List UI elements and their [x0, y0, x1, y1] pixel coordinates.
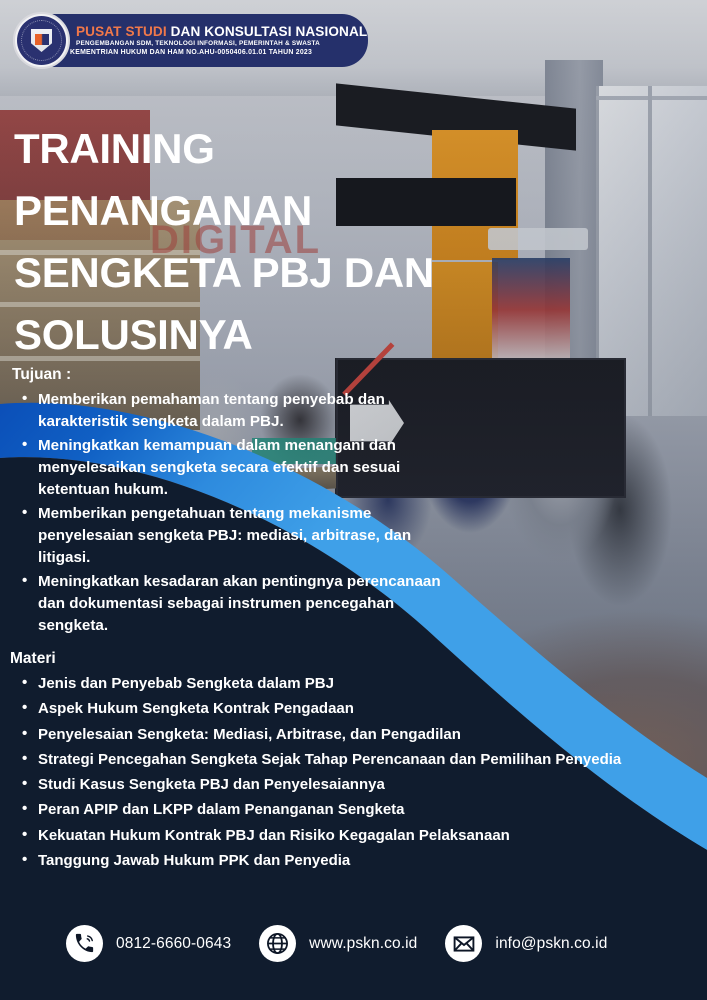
banner-title-orange: PUSAT STUDI [76, 24, 167, 39]
contact-website-value: www.pskn.co.id [309, 935, 417, 953]
phone-icon [66, 925, 103, 962]
list-item: Kekuatan Hukum Kontrak PBJ dan Risiko Ke… [10, 825, 670, 848]
objectives-list: Memberikan pemahaman tentang penyebab da… [12, 389, 442, 638]
banner-text-block: PUSAT STUDI DAN KONSULTASI NASIONAL PENG… [76, 25, 368, 57]
title-line-4: SOLUSINYA [14, 304, 534, 366]
organization-banner: PUSAT STUDI DAN KONSULTASI NASIONAL PENG… [14, 14, 368, 67]
contact-email-value: info@pskn.co.id [495, 935, 607, 953]
poster-canvas: DIGITAL [0, 0, 707, 1000]
contact-phone-value: 0812-6660-0643 [116, 935, 231, 953]
list-item: Memberikan pengetahuan tentang mekanisme… [12, 503, 442, 570]
pskn-logo [13, 12, 70, 69]
list-item: Strategi Pencegahan Sengketa Sejak Tahap… [10, 749, 670, 772]
contact-footer: 0812-6660-0643 www.pskn.co.id [0, 925, 707, 962]
contact-email[interactable]: info@pskn.co.id [445, 925, 607, 962]
banner-title: PUSAT STUDI DAN KONSULTASI NASIONAL [76, 25, 360, 39]
list-item: Aspek Hukum Sengketa Kontrak Pengadaan [10, 698, 670, 721]
banner-legal-text: KEMENTRIAN HUKUM DAN HAM NO.AHU-0050406.… [70, 49, 360, 56]
list-item: Meningkatkan kesadaran akan pentingnya p… [12, 571, 442, 638]
logo-ring-icon [17, 16, 66, 65]
list-item: Penyelesaian Sengketa: Mediasi, Arbitras… [10, 724, 670, 747]
objectives-section: Tujuan : Memberikan pemahaman tentang pe… [12, 366, 442, 639]
book-icon [35, 34, 49, 45]
list-item: Memberikan pemahaman tentang penyebab da… [12, 389, 442, 434]
shield-icon [31, 29, 52, 52]
list-item: Peran APIP dan LKPP dalam Penanganan Sen… [10, 799, 670, 822]
list-item: Studi Kasus Sengketa PBJ dan Penyelesaia… [10, 774, 670, 797]
materials-section: Materi Jenis dan Penyebab Sengketa dalam… [10, 650, 670, 875]
email-icon [445, 925, 482, 962]
materials-heading: Materi [10, 650, 670, 668]
materials-list: Jenis dan Penyebab Sengketa dalam PBJ As… [10, 673, 670, 873]
banner-title-white: DAN KONSULTASI NASIONAL [171, 24, 368, 39]
contact-phone[interactable]: 0812-6660-0643 [66, 925, 231, 962]
globe-icon [259, 925, 296, 962]
page-title: TRAINING PENANGANAN SENGKETA PBJ DAN SOL… [14, 118, 534, 367]
title-line-1: TRAINING [14, 118, 534, 180]
title-line-3: SENGKETA PBJ DAN [14, 242, 534, 304]
list-item: Meningkatkan kemampuan dalam menangani d… [12, 435, 442, 502]
banner-subtitle: PENGEMBANGAN SDM, TEKNOLOGI INFORMASI, P… [76, 40, 360, 47]
objectives-heading: Tujuan : [12, 366, 442, 384]
title-line-2: PENANGANAN [14, 180, 534, 242]
contact-website[interactable]: www.pskn.co.id [259, 925, 417, 962]
list-item: Jenis dan Penyebab Sengketa dalam PBJ [10, 673, 670, 696]
list-item: Tanggung Jawab Hukum PPK dan Penyedia [10, 850, 670, 873]
